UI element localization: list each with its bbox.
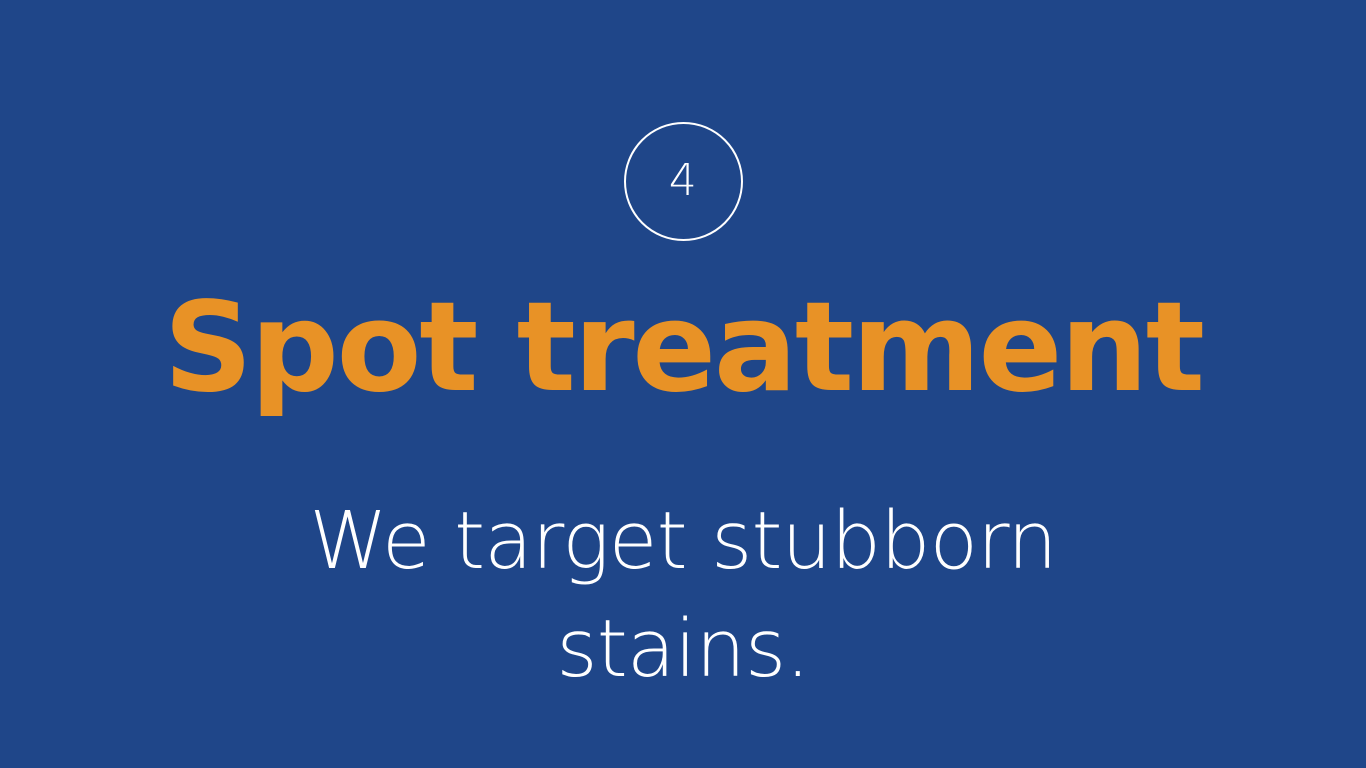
slide-title: Spot treatment [163,286,1202,410]
slide-subtitle: We target stubborn stains. [288,487,1078,703]
presentation-slide: 4 Spot treatment We target stubborn stai… [0,0,1366,768]
slide-title-container: Spot treatment [0,286,1366,410]
step-number-label: 4 [669,159,698,203]
step-number-badge: 4 [624,122,743,241]
slide-subtitle-container: We target stubborn stains. [0,487,1366,703]
step-number-badge-container: 4 [0,122,1366,241]
